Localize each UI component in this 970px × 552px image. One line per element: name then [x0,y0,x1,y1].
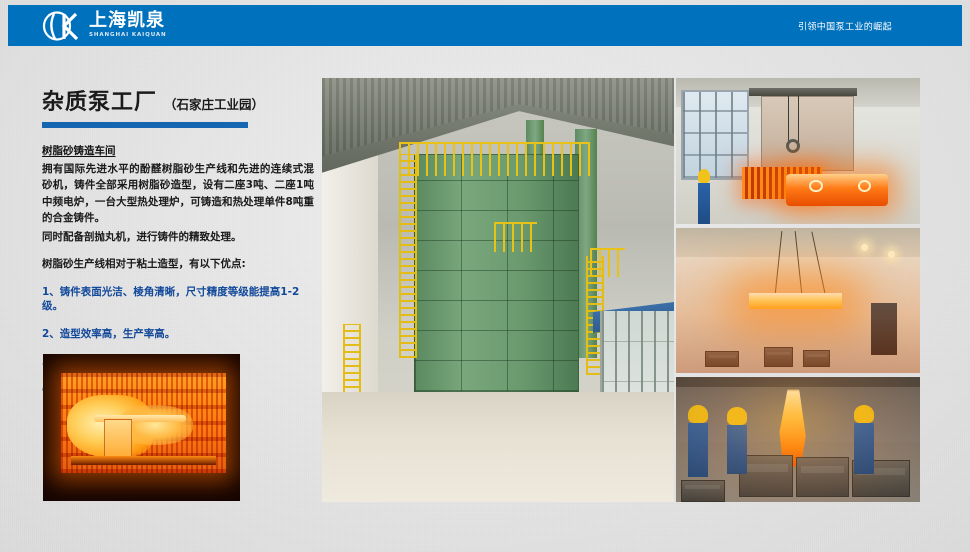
list-item: 2、造型效率高，生产率高。 [42,327,314,342]
photo-crane-hot-lift [676,228,920,373]
header-tagline: 引领中国泵工业的崛起 [798,19,892,32]
warm-glow-overlay [676,228,920,373]
worker-figure [698,169,710,224]
furnace-workpiece [104,419,132,459]
hall-window [681,90,749,181]
crane-cable [788,96,789,143]
safety-helmet-icon [698,169,710,183]
photo-molten-metal-pouring [676,377,920,502]
crane-cable [798,96,799,143]
body-paragraph-2: 同时配备剖抛丸机，进行铸件的精致处理。 [42,229,314,245]
yellow-platform-railing [399,142,589,176]
title-main-text: 杂质泵工厂 [42,84,157,116]
photo-furnace-interior [43,354,240,501]
photo-heat-treatment-furnace [676,78,920,224]
furnace-glow-chamber [61,373,226,473]
casting-bore [809,180,822,192]
logo-text-english: SHANGHAI KAIQUAN [89,33,167,39]
company-logo[interactable]: 上海凯泉 SHANGHAI KAIQUAN [40,11,167,41]
worker-uniform [698,183,710,224]
furnace-door-housing [761,96,854,172]
title-underline-bar [42,122,248,128]
glowing-casting-load [786,174,888,206]
page-title: 杂质泵工厂 （石家庄工业园） [42,84,314,116]
crane-beam [749,88,856,95]
yellow-platform-railing [494,222,536,252]
section-heading: 树脂砂铸造车间 [42,143,314,158]
list-item: 1、铸件表面光洁、棱角清晰，尺寸精度等级能提高1-2级。 [42,285,314,314]
yellow-access-ladder [399,154,417,358]
workshop-floor [322,392,674,502]
kaiquan-circle-k-logo-icon [40,11,84,41]
body-paragraph-1: 拥有国际先进水平的酚醛树脂砂生产线和先进的连续式混砂机，铸件全部采用树脂砂造型，… [42,161,314,226]
tower-panel-grid [415,155,578,390]
photo-resin-sand-workshop [322,78,674,502]
green-dust-collector-tower [414,154,579,391]
page-header: 上海凯泉 SHANGHAI KAIQUAN 引领中国泵工业的崛起 [8,5,962,46]
title-sub-text: （石家庄工业园） [164,94,264,113]
casting-bore [858,180,871,192]
body-paragraph-3: 树脂砂生产线相对于粘土造型，有以下优点: [42,256,314,272]
warm-glow-overlay [676,377,920,502]
logo-text-chinese: 上海凯泉 [89,12,167,30]
furnace-hearth [71,456,217,465]
